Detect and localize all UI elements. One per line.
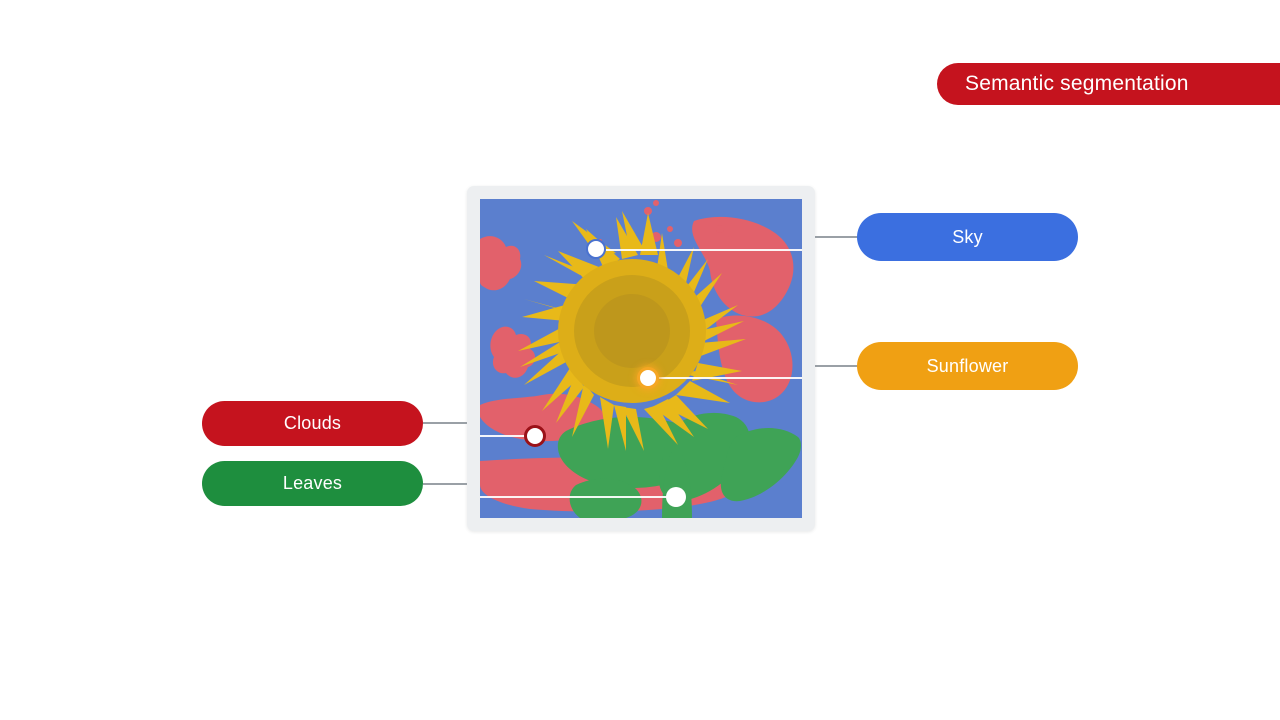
connector-inner-sunflower bbox=[658, 377, 802, 379]
label-text-leaves: Leaves bbox=[283, 473, 342, 494]
sunflower-marker-dot[interactable] bbox=[637, 367, 659, 389]
connector-line-clouds bbox=[423, 422, 467, 424]
label-text-clouds: Clouds bbox=[284, 413, 341, 434]
connector-inner-leaves bbox=[480, 496, 674, 498]
connector-line-sunflower bbox=[815, 365, 858, 367]
label-text-sunflower: Sunflower bbox=[927, 356, 1009, 377]
sky-marker-dot[interactable] bbox=[586, 239, 606, 259]
segmented-image bbox=[480, 199, 802, 518]
connector-line-leaves bbox=[423, 483, 467, 485]
clouds-marker-dot[interactable] bbox=[524, 425, 546, 447]
label-text-sky: Sky bbox=[952, 227, 983, 248]
label-pill-sunflower[interactable]: Sunflower bbox=[857, 342, 1078, 390]
leaves-marker-dot[interactable] bbox=[666, 487, 686, 507]
connector-inner-sky bbox=[606, 249, 802, 251]
title-banner: Semantic segmentation bbox=[937, 63, 1280, 105]
slide-canvas: Semantic segmentation bbox=[0, 0, 1280, 720]
connector-line-sky bbox=[815, 236, 858, 238]
label-pill-leaves[interactable]: Leaves bbox=[202, 461, 423, 506]
segmentation-overlay-svg bbox=[480, 199, 802, 518]
segmentation-image-card[interactable] bbox=[467, 186, 815, 531]
label-pill-clouds[interactable]: Clouds bbox=[202, 401, 423, 446]
label-pill-sky[interactable]: Sky bbox=[857, 213, 1078, 261]
page-title: Semantic segmentation bbox=[965, 72, 1189, 96]
